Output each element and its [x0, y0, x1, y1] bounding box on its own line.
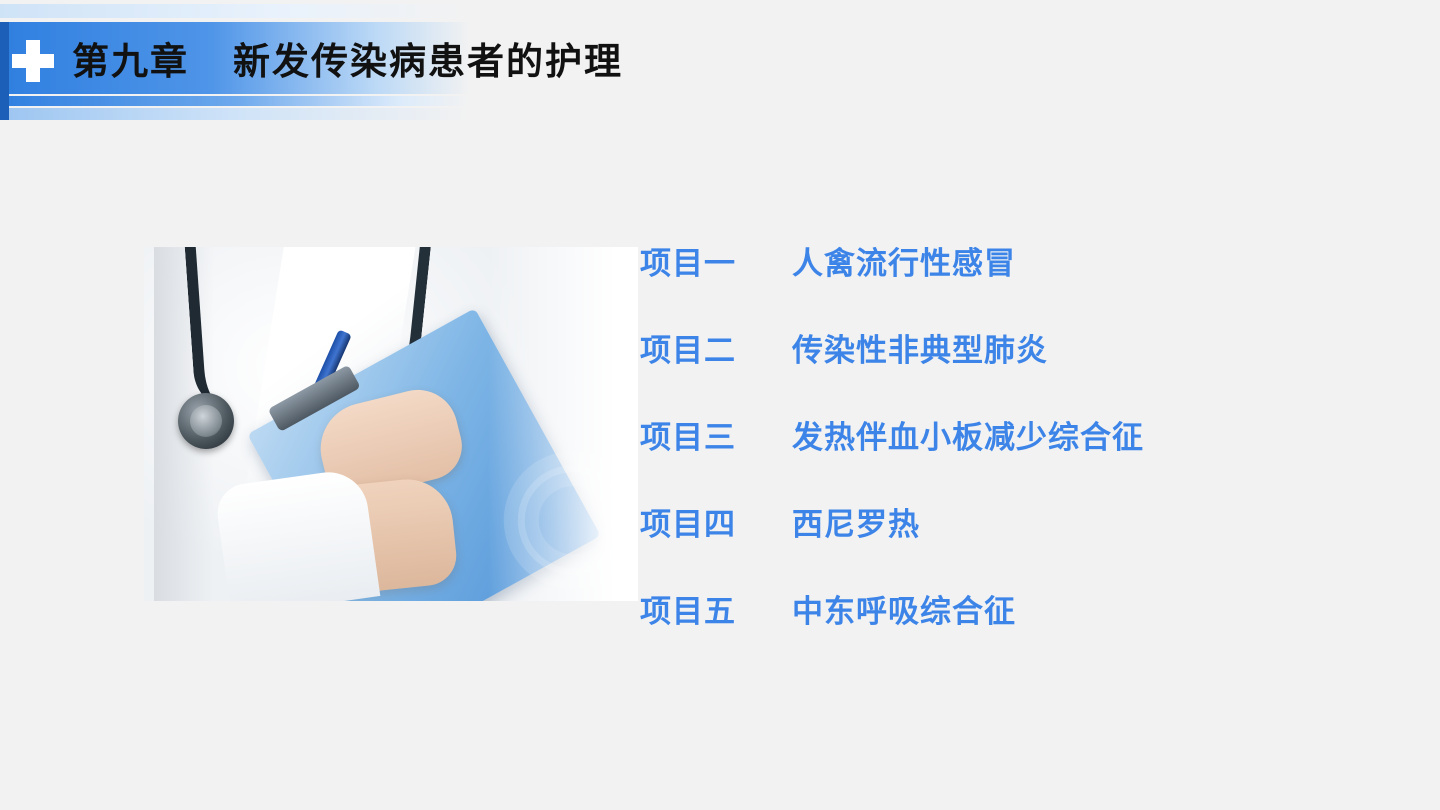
- list-item[interactable]: 项目四 西尼罗热: [640, 499, 1400, 586]
- header-band-lower-1: [0, 96, 470, 106]
- chapter-number: 第九章: [72, 41, 189, 82]
- project-index: 项目五: [640, 586, 792, 631]
- list-item[interactable]: 项目二 传染性非典型肺炎: [640, 325, 1400, 412]
- medical-cross-icon: [12, 40, 54, 82]
- stethoscope-chestpiece: [178, 393, 234, 449]
- list-item[interactable]: 项目五 中东呼吸综合征: [640, 586, 1400, 673]
- project-title: 发热伴血小板减少综合征: [792, 412, 1400, 457]
- slide-header-banner: 第九章新发传染病患者的护理: [0, 0, 1440, 128]
- header-left-accent-bar: [0, 22, 9, 120]
- header-band-top: [0, 4, 470, 18]
- chapter-title: 新发传染病患者的护理: [233, 41, 623, 82]
- cross-vertical-bar: [26, 40, 40, 82]
- list-item[interactable]: 项目三 发热伴血小板减少综合征: [640, 412, 1400, 499]
- project-index: 项目三: [640, 412, 792, 457]
- doctor-photo: [144, 247, 638, 601]
- project-title: 传染性非典型肺炎: [792, 325, 1400, 370]
- project-list: 项目一 人禽流行性感冒 项目二 传染性非典型肺炎 项目三 发热伴血小板减少综合征…: [640, 238, 1400, 673]
- photo-right-fade: [488, 247, 638, 601]
- project-index: 项目一: [640, 238, 792, 283]
- project-index: 项目四: [640, 499, 792, 544]
- page-title: 第九章新发传染病患者的护理: [72, 40, 623, 84]
- project-index: 项目二: [640, 325, 792, 370]
- header-band-lower-2: [0, 108, 470, 120]
- list-item[interactable]: 项目一 人禽流行性感冒: [640, 238, 1400, 325]
- project-title: 西尼罗热: [792, 499, 1400, 544]
- project-title: 中东呼吸综合征: [792, 586, 1400, 631]
- photo-coat-sleeve: [214, 467, 381, 601]
- project-title: 人禽流行性感冒: [792, 238, 1400, 283]
